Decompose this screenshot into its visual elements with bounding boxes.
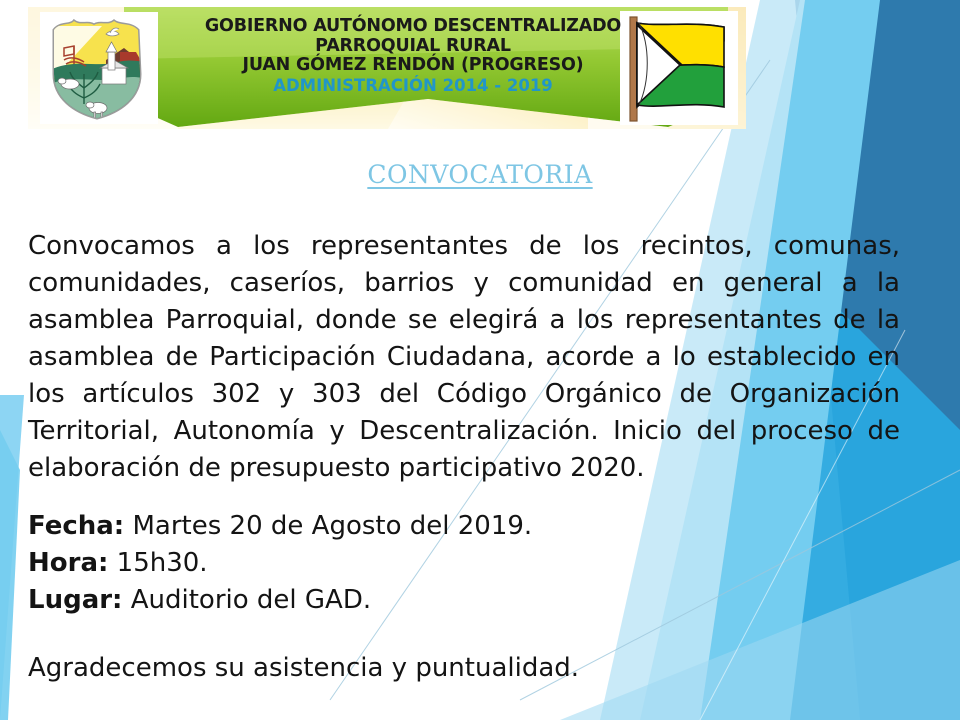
- detail-label-fecha: Fecha:: [28, 511, 124, 541]
- slide-content: CONVOCATORIA Convocamos a los representa…: [0, 0, 960, 720]
- detail-row-lugar: Lugar: Auditorio del GAD.: [28, 582, 900, 619]
- event-details: Fecha: Martes 20 de Agosto del 2019. Hor…: [28, 508, 900, 619]
- detail-label-lugar: Lugar:: [28, 585, 122, 615]
- detail-value-hora: 15h30.: [117, 548, 208, 578]
- page-title: CONVOCATORIA: [0, 160, 960, 189]
- detail-row-hora: Hora: 15h30.: [28, 545, 900, 582]
- closing-line: Agradecemos su asistencia y puntualidad.: [28, 650, 900, 687]
- slide-canvas: GOBIERNO AUTÓNOMO DESCENTRALIZADO PARROQ…: [0, 0, 960, 720]
- body-paragraph: Convocamos a los representantes de los r…: [28, 228, 900, 487]
- detail-value-fecha: Martes 20 de Agosto del 2019.: [132, 511, 532, 541]
- detail-row-fecha: Fecha: Martes 20 de Agosto del 2019.: [28, 508, 900, 545]
- detail-value-lugar: Auditorio del GAD.: [131, 585, 371, 615]
- detail-label-hora: Hora:: [28, 548, 108, 578]
